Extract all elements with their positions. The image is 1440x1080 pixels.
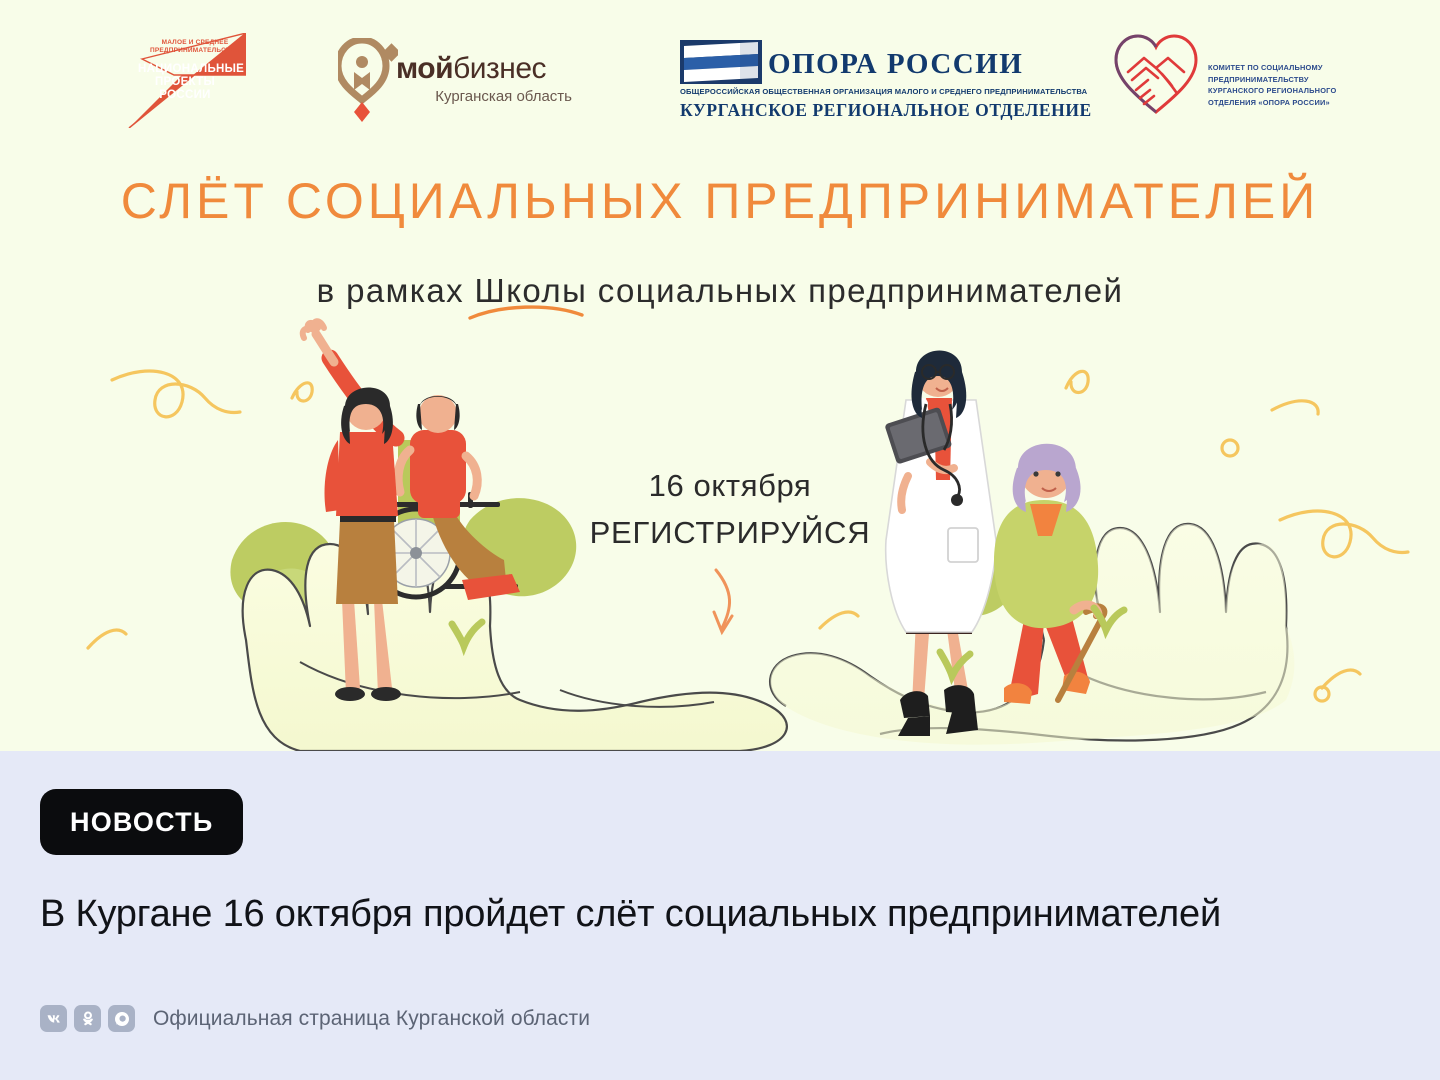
banner-title: СЛЁТ СОЦИАЛЬНЫХ ПРЕДПРИНИМАТЕЛЕЙ [0, 172, 1440, 230]
odnoklassniki-icon[interactable] [74, 1005, 101, 1032]
banner-date: 16 октября [600, 468, 860, 504]
status-badge: НОВОСТЬ [40, 789, 243, 855]
doctor [884, 350, 996, 736]
moy-biznes-word2: бизнес [453, 52, 546, 85]
vk-icon[interactable] [40, 1005, 67, 1032]
vk-glyph [45, 1010, 63, 1028]
opora-rossii-sub1: ОБЩЕРОССИЙСКАЯ ОБЩЕСТВЕННАЯ ОРГАНИЗАЦИЯ … [680, 87, 1020, 96]
moy-biznes-wordmark: мойбизнес [396, 52, 546, 86]
page-root: МАЛОЕ И СРЕДНЕЕ ПРЕДПРИНИМАТЕЛЬСТВО НАЦИ… [0, 0, 1440, 1080]
messenger-icon[interactable] [108, 1005, 135, 1032]
opora-rossii-sub2: КУРГАНСКОЕ РЕГИОНАЛЬНОЕ ОТДЕЛЕНИЕ [680, 100, 1020, 121]
news-headline[interactable]: В Кургане 16 октября пройдет слёт социал… [40, 893, 1400, 936]
ok-glyph [79, 1010, 97, 1028]
logo-row: МАЛОЕ И СРЕДНЕЕ ПРЕДПРИНИМАТЕЛЬСТВО НАЦИ… [0, 0, 1440, 150]
komitet-text: КОМИТЕТ ПО СОЦИАЛЬНОМУ ПРЕДПРИНИМАТЕЛЬСТ… [1208, 62, 1358, 108]
news-source: Официальная страница Курганской области [153, 1007, 590, 1031]
messenger-glyph [113, 1010, 131, 1028]
opora-rossii-title: ОПОРА РОССИИ [768, 48, 1023, 81]
moy-biznes-pin-icon [338, 38, 398, 124]
logo-komitet-social-business: КОМИТЕТ ПО СОЦИАЛЬНОМУ ПРЕДПРИНИМАТЕЛЬСТ… [1110, 28, 1360, 128]
event-banner: МАЛОЕ И СРЕДНЕЕ ПРЕДПРИНИМАТЕЛЬСТВО НАЦИ… [0, 0, 1440, 751]
logo-moy-biznes: мойбизнес Курганская область [338, 38, 578, 130]
cta-arrow [714, 570, 732, 632]
heart-handshake-icon [1110, 28, 1202, 120]
moy-biznes-region: Курганская область [396, 88, 572, 106]
np-line2: НАЦИОНАЛЬНЫЕ ПРОЕКТЫ РОССИИ [138, 63, 232, 102]
logo-national-projects-russia: МАЛОЕ И СРЕДНЕЕ ПРЕДПРИНИМАТЕЛЬСТВО НАЦИ… [118, 33, 246, 128]
np-line1: МАЛОЕ И СРЕДНЕЕ ПРЕДПРИНИМАТЕЛЬСТВО [146, 39, 244, 55]
banner-cta: РЕГИСТРИРУЙСЯ [580, 515, 880, 551]
banner-subtitle: в рамках Школы социальных предпринимател… [0, 272, 1440, 310]
russian-flag-icon [680, 40, 762, 84]
news-footer: Официальная страница Курганской области [40, 1005, 590, 1032]
moy-biznes-word1: мой [396, 52, 453, 85]
logo-opora-rossii: ОПОРА РОССИИ ОБЩЕРОССИЙСКАЯ ОБЩЕСТВЕННАЯ… [680, 40, 1020, 130]
